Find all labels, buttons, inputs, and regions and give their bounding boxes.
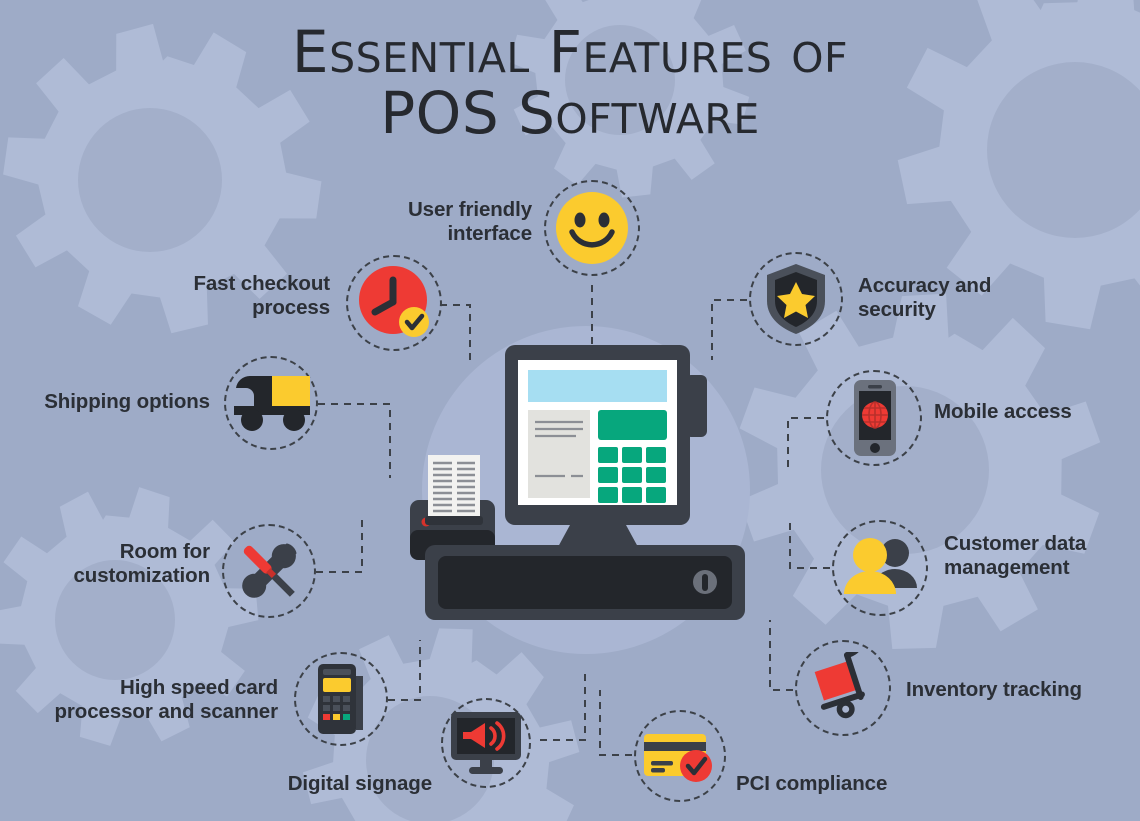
title-line-2: POS Software xyxy=(0,83,1140,144)
feature-node-pci-compliance[interactable] xyxy=(634,710,726,802)
feature-node-shipping-options[interactable] xyxy=(224,356,318,450)
label-line-1: Shipping options xyxy=(10,390,210,414)
shield-star-icon xyxy=(763,262,829,336)
feature-node-accuracy-and-security[interactable] xyxy=(749,252,843,346)
two-users-icon xyxy=(842,536,920,598)
mobile-phone-globe-icon xyxy=(852,378,898,458)
monitor-megaphone-icon xyxy=(449,710,523,776)
label-pci-compliance: PCI compliance xyxy=(736,772,956,796)
feature-node-fast-checkout-process[interactable] xyxy=(346,255,442,351)
title-line-1: Essential Features of xyxy=(292,18,848,86)
feature-node-mobile-access[interactable] xyxy=(826,370,922,466)
label-digital-signage: Digital signage xyxy=(250,772,432,796)
hand-truck-box-icon xyxy=(803,652,883,724)
smiley-face-icon xyxy=(554,190,630,266)
label-line-1: Room for xyxy=(20,540,210,564)
pos-monitor-icon xyxy=(505,345,707,547)
pos-terminal-illustration xyxy=(400,330,760,650)
wrench-screwdriver-icon xyxy=(232,534,306,608)
feature-node-customer-data-management[interactable] xyxy=(832,520,928,616)
credit-card-check-icon xyxy=(642,730,718,786)
label-user-friendly-interface: User friendly interface xyxy=(320,198,532,246)
cash-drawer-icon xyxy=(425,545,745,620)
clock-check-icon xyxy=(355,264,433,342)
label-line-1: High speed card xyxy=(10,676,278,700)
receipt-printer-icon xyxy=(410,455,495,560)
label-mobile-access: Mobile access xyxy=(934,400,1140,424)
label-accuracy-and-security: Accuracy and security xyxy=(858,274,1088,322)
label-line-1: Mobile access xyxy=(934,400,1140,424)
feature-node-user-friendly-interface[interactable] xyxy=(544,180,640,276)
feature-node-high-speed-card-processor[interactable] xyxy=(294,652,388,746)
label-line-2: interface xyxy=(320,222,532,246)
label-inventory-tracking: Inventory tracking xyxy=(906,678,1132,702)
label-line-1: Fast checkout xyxy=(120,272,330,296)
feature-node-digital-signage[interactable] xyxy=(441,698,531,788)
delivery-truck-icon xyxy=(234,370,310,436)
feature-node-room-for-customization[interactable] xyxy=(222,524,316,618)
label-line-1: Customer data xyxy=(944,532,1140,556)
label-line-2: security xyxy=(858,298,1088,322)
label-fast-checkout-process: Fast checkout process xyxy=(120,272,330,320)
card-terminal-icon xyxy=(314,662,372,736)
label-line-2: management xyxy=(944,556,1140,580)
label-line-1: Accuracy and xyxy=(858,274,1088,298)
label-line-1: Digital signage xyxy=(250,772,432,796)
label-room-for-customization: Room for customization xyxy=(20,540,210,588)
label-line-1: Inventory tracking xyxy=(906,678,1132,702)
feature-node-inventory-tracking[interactable] xyxy=(795,640,891,736)
label-line-1: User friendly xyxy=(320,198,532,222)
label-line-2: processor and scanner xyxy=(10,700,278,724)
page-title: Essential Features of POS Software xyxy=(0,22,1140,144)
label-shipping-options: Shipping options xyxy=(10,390,210,414)
label-line-2: customization xyxy=(20,564,210,588)
label-customer-data-management: Customer data management xyxy=(944,532,1140,580)
label-high-speed-card-processor: High speed card processor and scanner xyxy=(10,676,278,724)
label-line-1: PCI compliance xyxy=(736,772,956,796)
label-line-2: process xyxy=(120,296,330,320)
infographic-canvas: Essential Features of POS Software xyxy=(0,0,1140,821)
